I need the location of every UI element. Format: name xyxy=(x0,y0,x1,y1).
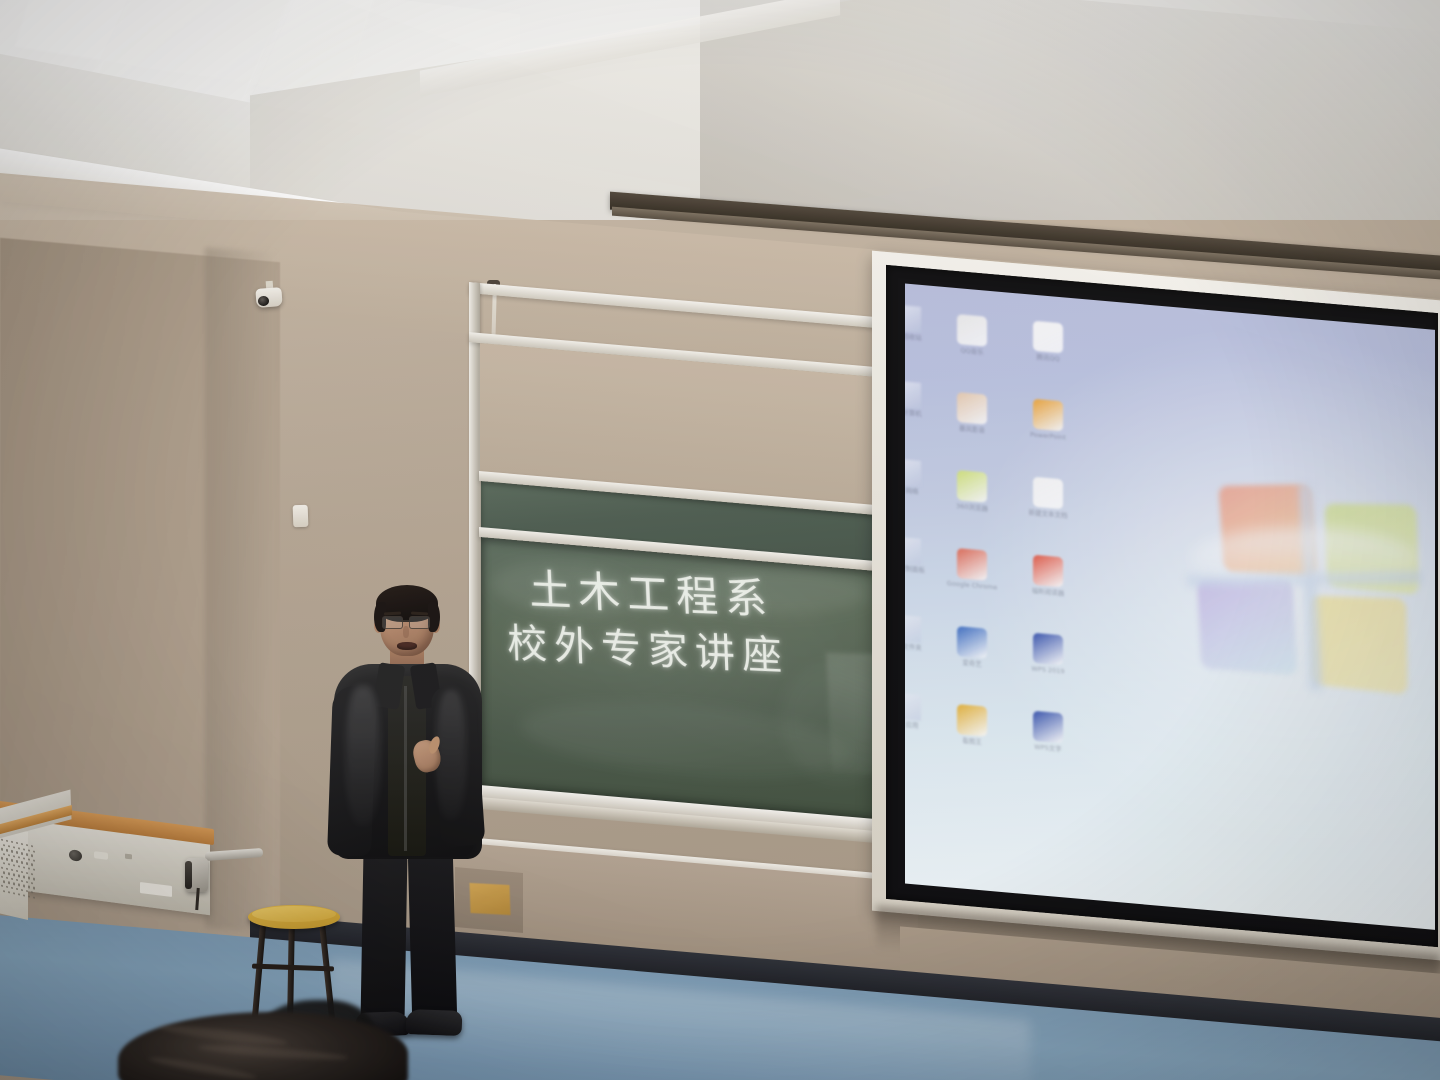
blackboard-line-2: 校外专家讲座 xyxy=(502,618,894,687)
qq-music-label: QQ音乐 xyxy=(939,344,1005,358)
windows-logo-quadrant xyxy=(1310,596,1407,695)
presenter-jacket-zip xyxy=(404,686,407,851)
blackboard-assembly: 土木工程系 校外专家讲座 xyxy=(455,273,900,901)
control-panel-label: 控制面板 xyxy=(905,562,945,576)
app-label: 应用 xyxy=(905,718,945,732)
video-app-label: 爱奇艺 xyxy=(939,656,1005,670)
photo-viewer-icon[interactable] xyxy=(957,704,987,737)
classroom-photo: 土木工程系 校外专家讲座 回收站计算机网络控制面板文件夹应 xyxy=(0,0,1440,1080)
chrome-label: Google Chrome xyxy=(939,578,1005,592)
presenter-jacket-sheen xyxy=(436,690,466,820)
media-player-icon[interactable] xyxy=(957,392,987,425)
qq-messenger-label: 腾讯QQ xyxy=(1015,351,1081,365)
windows-logo-quadrant xyxy=(1197,579,1297,675)
blackboard-panel-main[interactable]: 土木工程系 校外专家讲座 xyxy=(481,537,899,823)
qq-messenger-icon[interactable] xyxy=(1033,321,1063,354)
browser-leaf-label: 360浏览器 xyxy=(939,500,1005,514)
presenter-leg-right xyxy=(408,851,457,1020)
folder-icon[interactable] xyxy=(905,615,921,643)
recycle-bin-icon[interactable] xyxy=(905,305,921,333)
app-icon[interactable] xyxy=(905,693,921,721)
windows-logo-icon xyxy=(1190,478,1415,703)
computer-icon[interactable] xyxy=(905,381,921,409)
recycle-bin-label: 回收站 xyxy=(905,330,945,344)
student-foreground xyxy=(118,1012,408,1080)
powerpoint-icon[interactable] xyxy=(1033,399,1063,432)
computer-label: 计算机 xyxy=(905,406,945,420)
presenter-shoe-right xyxy=(406,1009,463,1036)
pdf-reader-label: 福昕阅读器 xyxy=(1015,585,1081,599)
lectern-speaker-grille xyxy=(0,838,38,903)
presenter-jacket-sheen xyxy=(346,686,380,826)
wps-office-label: WPS 2019 xyxy=(1015,663,1081,677)
eyeglass-lens-right xyxy=(409,616,430,629)
powerpoint-label: PowerPoint xyxy=(1015,429,1081,443)
chrome-icon[interactable] xyxy=(957,548,987,581)
presenter-nose xyxy=(403,626,409,638)
wps-writer-label: WPS文字 xyxy=(1015,741,1081,755)
gooseneck-microphone-base xyxy=(185,861,192,889)
network-icon[interactable] xyxy=(905,459,921,487)
browser-leaf-icon[interactable] xyxy=(957,470,987,503)
projected-desktop[interactable]: 回收站计算机网络控制面板文件夹应用 QQ音乐腾讯QQ暴风影音PowerPoint… xyxy=(905,284,1435,930)
eyeglass-bridge xyxy=(401,620,409,622)
photo-viewer-label: 看图王 xyxy=(939,734,1005,748)
wall-switch[interactable] xyxy=(293,505,309,528)
wps-office-icon[interactable] xyxy=(1033,633,1063,666)
network-label: 网络 xyxy=(905,484,945,498)
folder-label: 文件夹 xyxy=(905,640,945,654)
wps-writer-icon[interactable] xyxy=(1033,711,1063,744)
presenter-legs xyxy=(360,852,458,1022)
eyeglass-lens-left xyxy=(382,616,403,629)
lectern-button-small[interactable] xyxy=(125,854,132,860)
stool-leg xyxy=(252,923,266,1019)
video-app-icon[interactable] xyxy=(957,626,987,659)
projection-screen[interactable]: 回收站计算机网络控制面板文件夹应用 QQ音乐腾讯QQ暴风影音PowerPoint… xyxy=(872,251,1440,982)
control-panel-icon[interactable] xyxy=(905,537,921,565)
text-document-label: 新建文本文档 xyxy=(1015,507,1081,521)
student-hair xyxy=(118,1012,408,1080)
qq-music-icon[interactable] xyxy=(957,314,987,347)
presenter-leg-left xyxy=(361,852,408,1021)
presenter-mouth xyxy=(397,642,417,650)
text-document-icon[interactable] xyxy=(1033,477,1063,510)
pdf-reader-icon[interactable] xyxy=(1033,555,1063,588)
media-player-label: 暴风影音 xyxy=(939,422,1005,436)
presenter xyxy=(318,590,493,1045)
